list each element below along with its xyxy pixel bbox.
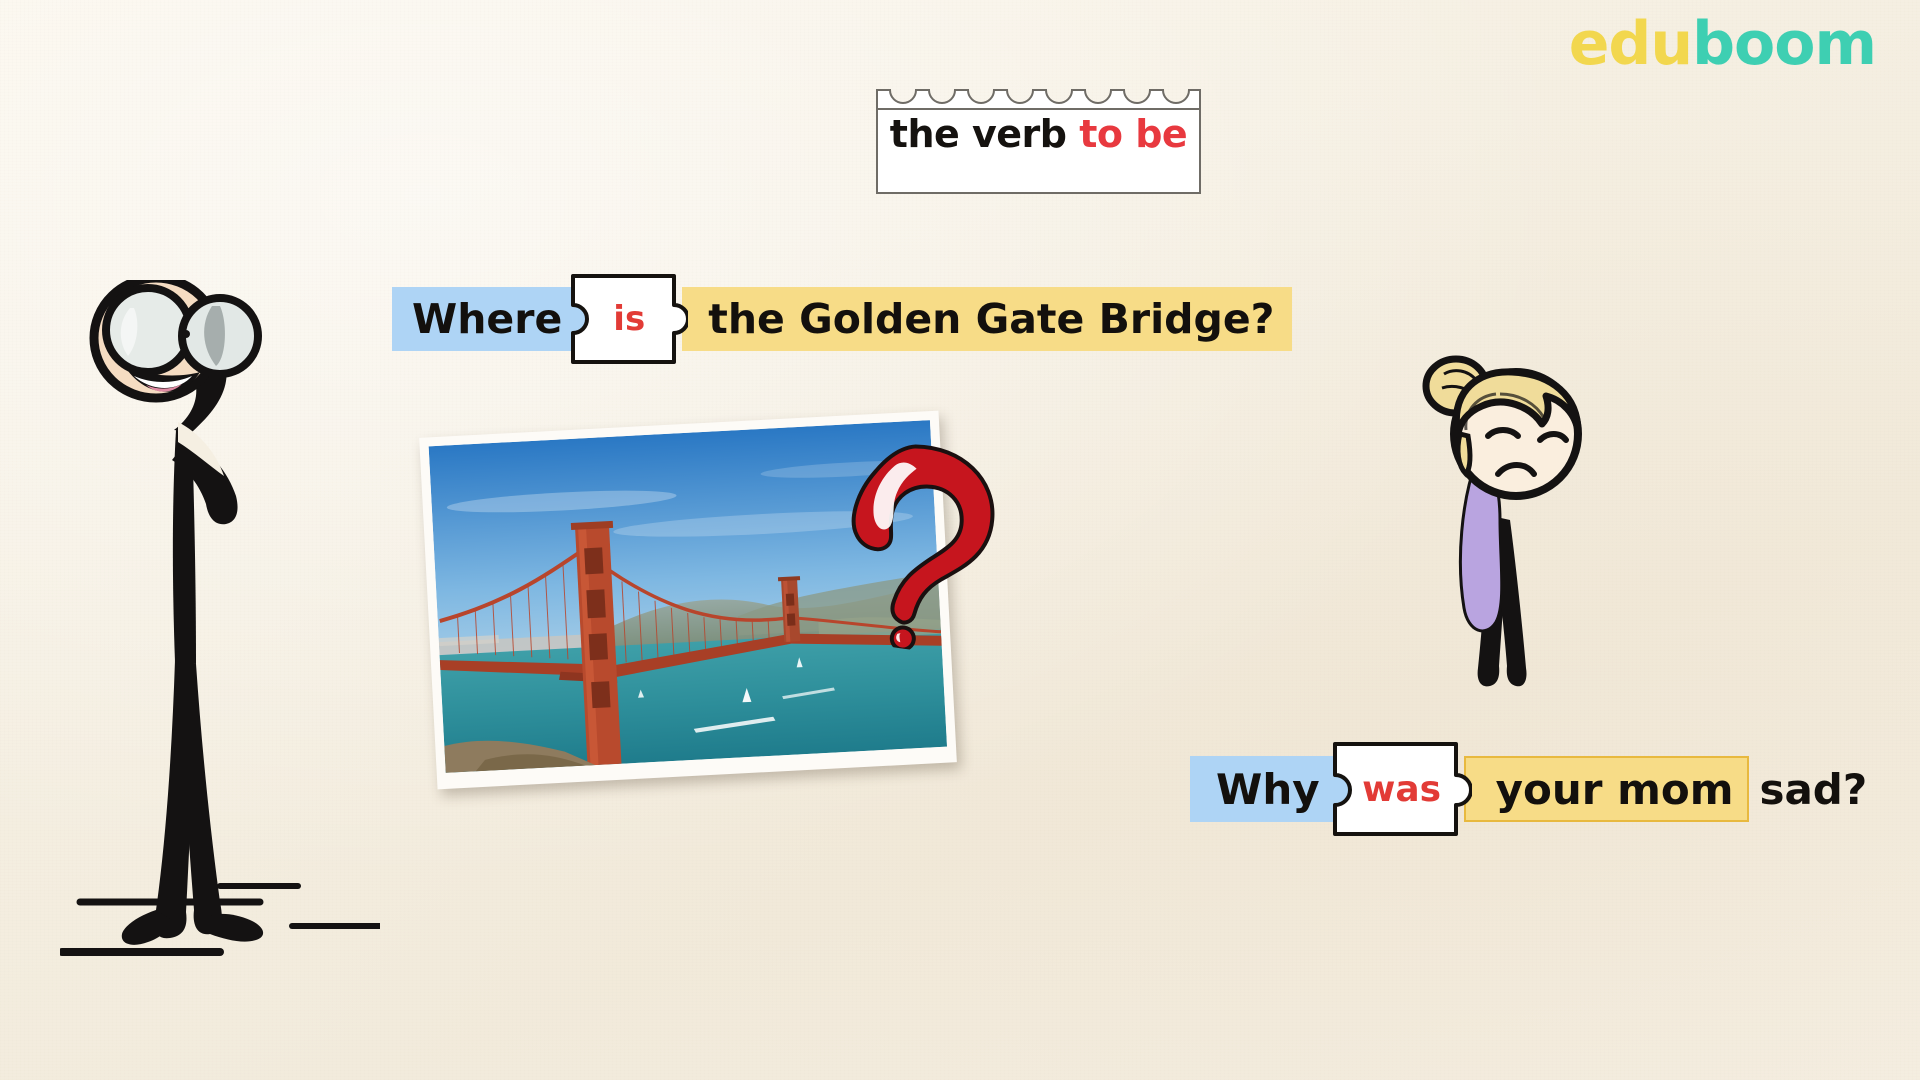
logo-text-boom: boom xyxy=(1692,9,1876,79)
sentence-rest-label: the Golden Gate Bridge? xyxy=(708,295,1274,343)
verb-puzzle-piece-is[interactable]: is xyxy=(570,273,688,365)
logo-text-edu: edu xyxy=(1569,9,1692,79)
question-word-label-2: Why xyxy=(1216,765,1320,814)
slide-canvas: eduboom the verb to be Where is the Gold… xyxy=(0,0,1920,1080)
right-foot xyxy=(210,914,263,942)
question-word-block-2[interactable]: Why xyxy=(1190,756,1348,822)
verb-piece-label-2: was xyxy=(1362,769,1441,810)
golden-gate-bridge-photo-card xyxy=(419,411,957,790)
sentence-why-was: Why was your mom sad? xyxy=(1190,756,1871,822)
sentence-trailing-word: sad? xyxy=(1749,756,1871,822)
title-plain-text: the verb xyxy=(890,112,1079,156)
verb-puzzle-piece-was[interactable]: was xyxy=(1332,741,1472,837)
eduboom-logo: eduboom xyxy=(1569,14,1876,74)
character-boy-with-glasses xyxy=(60,280,380,1070)
question-word-label: Where xyxy=(412,295,562,343)
sentence-where-is: Where is the Golden Gate Bridge? xyxy=(392,287,1292,351)
sentence-rest-block[interactable]: the Golden Gate Bridge? xyxy=(682,287,1292,351)
sentence-rest-block-2[interactable]: your mom xyxy=(1464,756,1750,822)
left-eye xyxy=(106,288,190,372)
title-note-card: the verb to be xyxy=(876,84,1201,194)
sentence-trailing-label: sad? xyxy=(1759,765,1867,814)
title-card-text: the verb to be xyxy=(876,112,1201,156)
glasses-bridge xyxy=(182,330,190,338)
torn-edge-scallops-icon xyxy=(876,84,1201,110)
verb-piece-label: is xyxy=(613,299,645,339)
question-word-block[interactable]: Where xyxy=(392,287,588,351)
golden-gate-bridge-photo xyxy=(429,420,947,773)
title-accent-text: to be xyxy=(1079,112,1187,156)
sentence-rest-label-2: your mom xyxy=(1496,765,1734,814)
character-sad-girl xyxy=(1400,350,1620,750)
